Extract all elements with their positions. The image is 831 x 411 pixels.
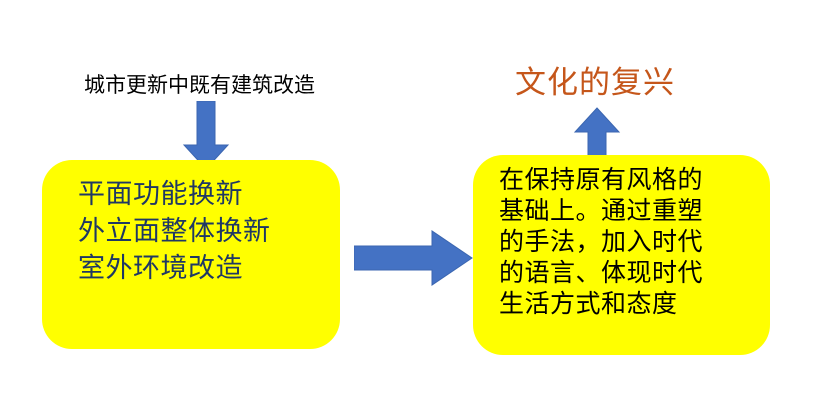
diagram-canvas: 城市更新中既有建筑改造 平面功能换新 外立面整体换新 室外环境改造 文化的复兴 … [0,0,831,411]
left-flow-title: 城市更新中既有建筑改造 [84,74,315,97]
right-flow-title: 文化的复兴 [515,66,675,100]
right-outcome-box: 在保持原有风格的 基础上。通过重塑 的手法，加入时代 的语言、体现时代 生活方式… [473,155,770,355]
right-outcome-box-text: 在保持原有风格的 基础上。通过重塑 的手法，加入时代 的语言、体现时代 生活方式… [499,164,703,319]
left-process-box-text: 平面功能换新 外立面整体换新 室外环境改造 [78,176,271,287]
left-process-box: 平面功能换新 外立面整体换新 室外环境改造 [42,160,340,349]
arrow-right-icon [354,228,474,288]
